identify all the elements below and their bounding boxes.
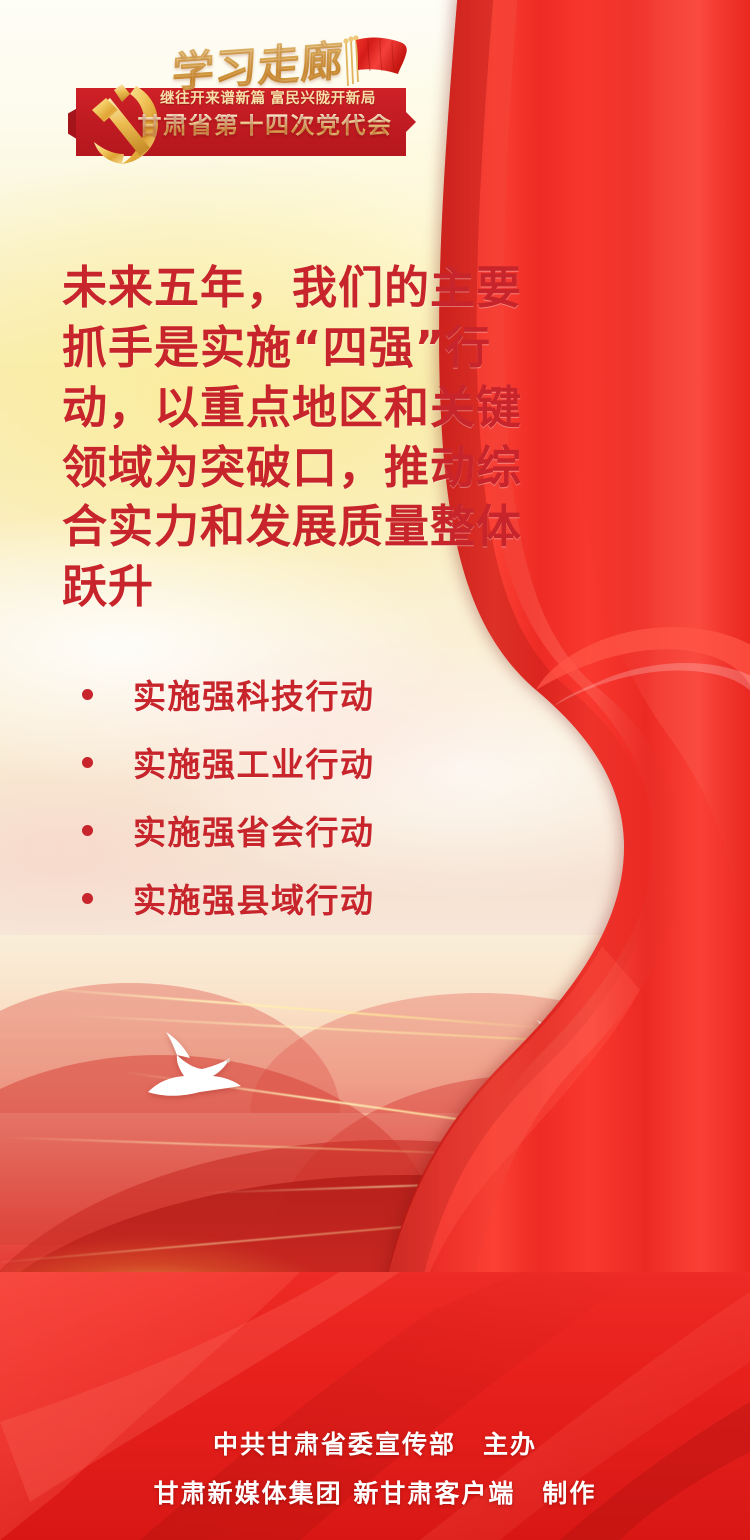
calligraphy-title-text: 学习走廊 (171, 26, 345, 99)
footer: 中共甘肃省委宣传部 主办 甘肃新媒体集团 新甘肃客户端 制作 (0, 1432, 750, 1506)
footer-organizer: 中共甘肃省委宣传部 主办 (0, 1432, 750, 1457)
page-title: 未来五年，我们的主要抓手是实施“四强”行动，以重点地区和关键领域为突破口，推动综… (62, 258, 562, 617)
list-item: 实施强省会行动 (72, 796, 532, 864)
dove-icon (140, 1030, 248, 1104)
bullet-dot-icon (82, 893, 93, 904)
banner-main-line: 甘肃省第十四次党代会 (136, 114, 394, 138)
list-item: 实施强县域行动 (72, 864, 532, 932)
bullet-dot-icon (82, 757, 93, 768)
header-banner: 学习走廊 (76, 30, 416, 166)
list-item: 实施强工业行动 (72, 728, 532, 796)
list-item-label: 实施强省会行动 (133, 806, 375, 854)
footer-producer: 甘肃新媒体集团 新甘肃客户端 制作 (0, 1481, 750, 1506)
action-bullet-list: 实施强科技行动 实施强工业行动 实施强省会行动 实施强县域行动 (72, 660, 532, 932)
banner-subtitle: 继往开来谱新篇 富民兴陇开新局 (142, 92, 394, 107)
list-item-label: 实施强县域行动 (133, 874, 375, 922)
list-item-label: 实施强工业行动 (133, 738, 375, 786)
poster-root: 学习走廊 (0, 0, 750, 1540)
bullet-dot-icon (82, 689, 93, 700)
red-silk-drape-icon (340, 0, 750, 1310)
list-item: 实施强科技行动 (72, 660, 532, 728)
bullet-dot-icon (82, 825, 93, 836)
red-flag-icon (338, 34, 410, 92)
calligraphy-title: 学习走廊 (168, 32, 348, 94)
list-item-label: 实施强科技行动 (133, 670, 375, 718)
